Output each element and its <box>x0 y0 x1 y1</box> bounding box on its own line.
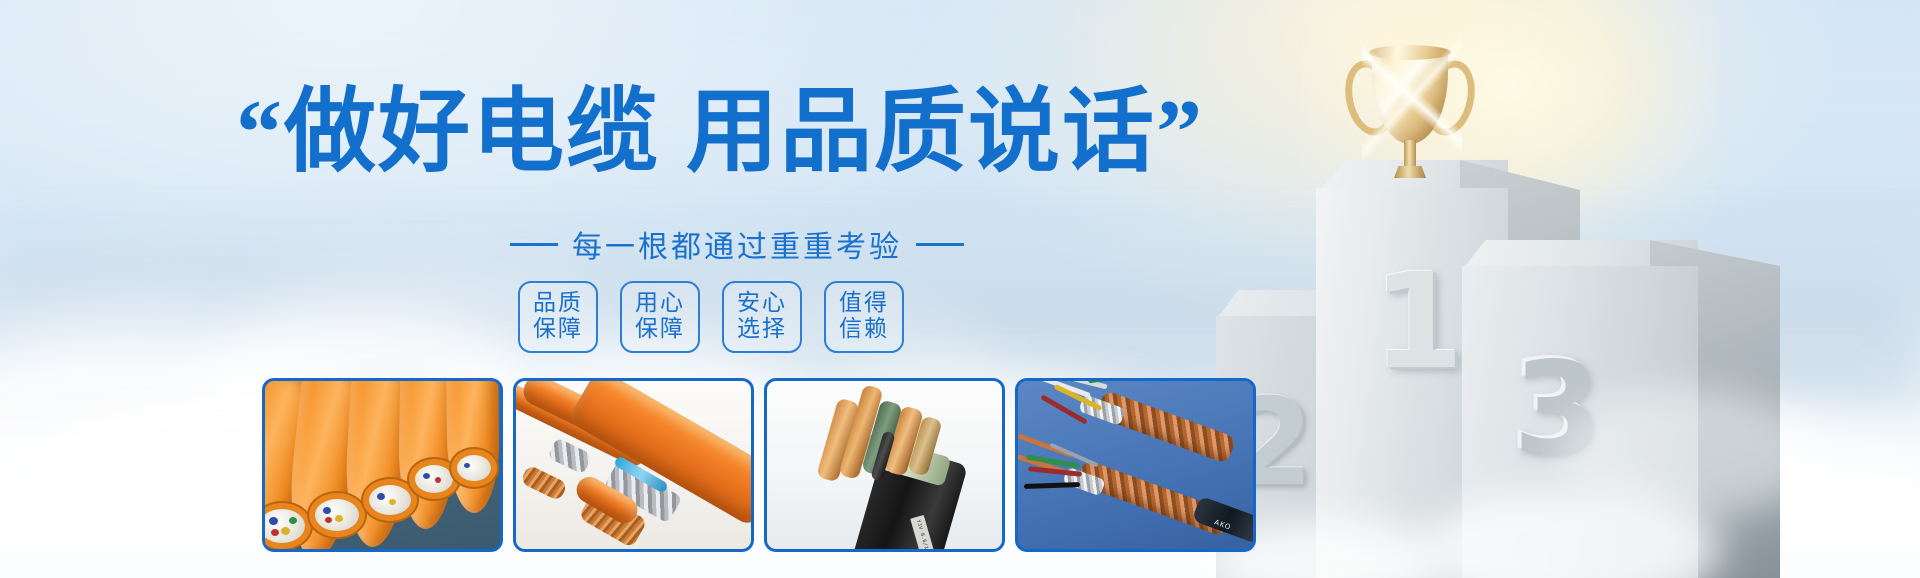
podium-number-1: 1 <box>1372 256 1464 388</box>
subtitle: 每一根都通过重重考验 <box>510 222 964 266</box>
badge-dedication-guarantee[interactable]: 用心 保障 <box>620 281 700 353</box>
open-quote: “ <box>236 81 284 183</box>
headline-part-2: 用品质说话 <box>686 78 1156 185</box>
badge-line-1: 品质 <box>533 291 583 317</box>
podium-block-3: 3 <box>1462 266 1698 578</box>
badge-group: 品质 保障 用心 保障 安心 选择 值得 信赖 <box>518 281 904 353</box>
winner-podium: 2 1 3 <box>1226 188 1786 578</box>
product-card-copper-core[interactable] <box>513 378 754 552</box>
badge-quality-guarantee[interactable]: 品质 保障 <box>518 281 598 353</box>
product-card-shielded-cable[interactable]: AKO <box>1015 378 1256 552</box>
trophy-icon <box>1344 36 1476 206</box>
subtitle-rule-right <box>916 243 964 246</box>
close-quote: ” <box>1156 81 1204 183</box>
headline-part-1: 做好电缆 <box>284 78 660 185</box>
badge-line-2: 保障 <box>533 317 583 343</box>
badge-trustworthy[interactable]: 值得 信赖 <box>824 281 904 353</box>
badge-confident-choice[interactable]: 安心 选择 <box>722 281 802 353</box>
podium-number-3: 3 <box>1510 344 1599 472</box>
headline: “做好电缆用品质说话” <box>236 86 1204 178</box>
product-card-power-cable[interactable]: YJV 0.6/1KV <box>764 378 1005 552</box>
subtitle-rule-left <box>510 243 558 246</box>
subtitle-text: 每一根都通过重重考验 <box>572 222 902 266</box>
promo-banner: 2 1 3 “做好电缆用品质说话” <box>0 0 1920 578</box>
product-card-orange-bundle[interactable] <box>262 378 503 552</box>
badge-line-1: 值得 <box>839 291 889 317</box>
badge-line-2: 信赖 <box>839 317 889 343</box>
badge-line-2: 选择 <box>737 317 787 343</box>
badge-line-1: 安心 <box>737 291 787 317</box>
badge-line-2: 保障 <box>635 317 685 343</box>
product-card-group: YJV 0.6/1KV AKO <box>262 378 1256 552</box>
badge-line-1: 用心 <box>635 291 685 317</box>
